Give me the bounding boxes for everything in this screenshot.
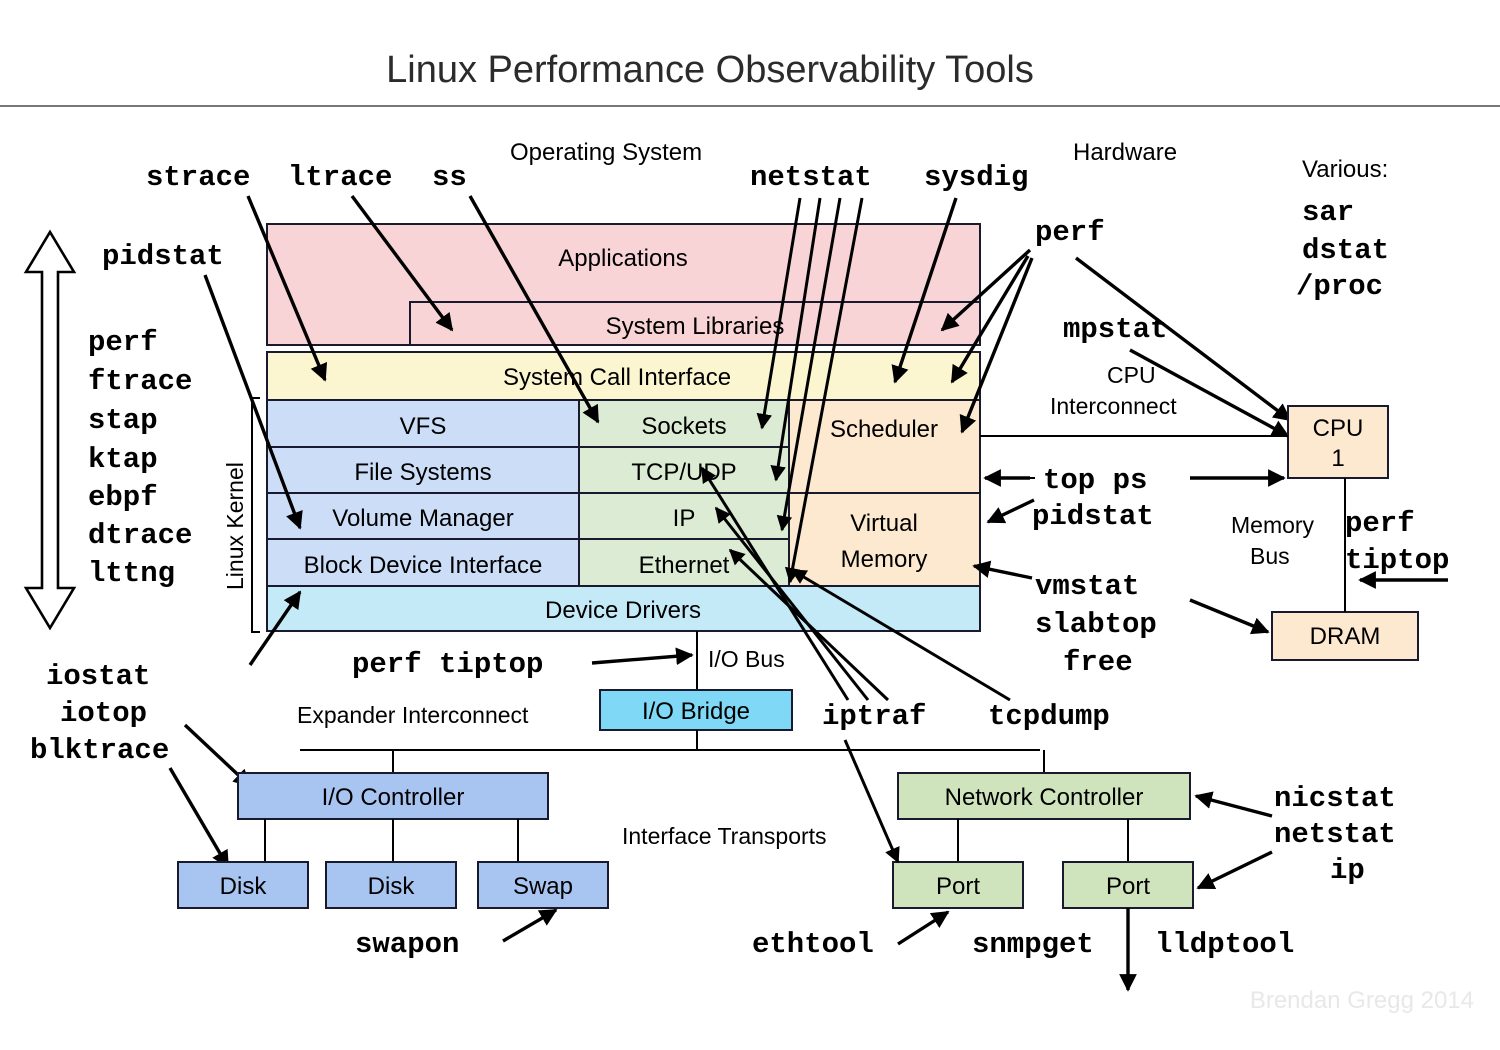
label-io-bus: I/O Bus (708, 646, 785, 672)
arrow-vmstat-to-vm (974, 566, 1032, 578)
tool-iostat: iostat (46, 660, 150, 693)
tool-netstat-right: netstat (1274, 818, 1396, 851)
tool-ltrace: ltrace (288, 161, 392, 194)
tool-pidstat-right: pidstat (1032, 500, 1154, 533)
arrow-ethtool (898, 912, 948, 944)
arrow-swapon (503, 910, 556, 941)
label-dram: DRAM (1310, 623, 1381, 650)
tool-dtrace: dtrace (88, 519, 192, 552)
tool-ethtool: ethtool (752, 928, 874, 961)
arrow-pidstat-to-vm (988, 500, 1034, 522)
page-title: Linux Performance Observability Tools (386, 49, 1034, 91)
arrow-blktrace (170, 768, 228, 867)
tool-netstat-top: netstat (750, 161, 872, 194)
tool-lttng: lttng (88, 557, 175, 590)
label-cpu-line1: CPU (1313, 415, 1364, 442)
tool-swapon: swapon (355, 928, 459, 961)
tool-stap: stap (88, 404, 158, 437)
label-sockets: Sockets (641, 413, 726, 440)
label-ethernet: Ethernet (639, 552, 730, 579)
arrow-ip-to-port2 (1198, 852, 1272, 888)
label-applications: Applications (558, 245, 687, 272)
label-expander-interconnect: Expander Interconnect (297, 702, 529, 728)
label-system-call-interface: System Call Interface (503, 364, 731, 391)
tool-ktap: ktap (88, 443, 158, 476)
box-scheduler (789, 400, 980, 493)
label-scheduler: Scheduler (830, 416, 938, 443)
tool-perf-kernel: perf (88, 326, 158, 359)
tool-free: free (1063, 646, 1133, 679)
label-block-device-interface: Block Device Interface (304, 552, 543, 579)
tool-ftrace: ftrace (88, 365, 192, 398)
diagram-root: Linux Performance Observability Tools Op… (0, 0, 1500, 1050)
arrow-nicstat (1196, 796, 1272, 816)
label-disk-1: Disk (220, 873, 268, 900)
label-file-systems: File Systems (354, 459, 491, 486)
label-memory-bus-2: Bus (1250, 543, 1290, 569)
arrow-perf-tiptop-iobus (592, 655, 692, 663)
tool-sysdig: sysdig (924, 161, 1028, 194)
label-cpu-interconnect-1: CPU (1107, 362, 1156, 388)
tool-pidstat-left: pidstat (102, 240, 224, 273)
label-swap: Swap (513, 873, 573, 900)
tool-perf-mem: perf (1345, 507, 1415, 540)
tool-tcpdump: tcpdump (988, 700, 1110, 733)
label-interface-transports: Interface Transports (622, 823, 827, 849)
tool-blktrace: blktrace (30, 734, 169, 767)
tool-mpstat: mpstat (1063, 313, 1167, 346)
tool-dstat: dstat (1302, 234, 1389, 267)
label-tcp-udp: TCP/UDP (631, 459, 736, 486)
label-disk-2: Disk (368, 873, 416, 900)
label-io-bridge: I/O Bridge (642, 698, 750, 725)
tool-strace: strace (146, 161, 250, 194)
label-memory-bus-1: Memory (1231, 512, 1315, 538)
label-various: Various: (1302, 156, 1388, 183)
label-virtual-memory-line2: Memory (841, 546, 928, 573)
label-cpu-interconnect-2: Interconnect (1050, 393, 1177, 419)
tool-sar: sar (1302, 196, 1354, 229)
label-operating-system: Operating System (510, 139, 702, 166)
label-linux-kernel: Linux Kernel (222, 462, 248, 590)
tool-ss: ss (432, 161, 467, 194)
label-device-drivers: Device Drivers (545, 597, 701, 624)
tool-proc: /proc (1296, 270, 1383, 303)
tool-ebpf: ebpf (88, 481, 158, 514)
scope-double-arrow (26, 232, 74, 628)
label-ip: IP (673, 505, 696, 532)
label-cpu-line2: 1 (1331, 445, 1344, 472)
label-network-controller: Network Controller (945, 784, 1144, 811)
tool-nicstat: nicstat (1274, 782, 1396, 815)
arrow-vmstat-to-dram (1190, 600, 1268, 632)
label-hardware: Hardware (1073, 139, 1177, 166)
tool-lldptool: lldptool (1155, 928, 1294, 961)
tool-perf-top: perf (1035, 216, 1105, 249)
label-port-2: Port (1106, 873, 1150, 900)
tool-perf-tiptop-iobus: perf tiptop (352, 648, 543, 681)
label-io-controller: I/O Controller (322, 784, 465, 811)
label-virtual-memory-line1: Virtual (850, 510, 918, 537)
label-volume-manager: Volume Manager (332, 505, 513, 532)
label-vfs: VFS (400, 413, 447, 440)
tool-iotop: iotop (60, 697, 147, 730)
tool-top-ps: top ps (1043, 464, 1147, 497)
credit-text: Brendan Gregg 2014 (1250, 987, 1474, 1014)
tool-tiptop-mem: tiptop (1345, 544, 1449, 577)
arrow-iptraf-to-port (845, 740, 898, 862)
label-port-1: Port (936, 873, 980, 900)
tool-iptraf: iptraf (822, 700, 926, 733)
tool-vmstat: vmstat (1035, 570, 1139, 603)
label-system-libraries: System Libraries (606, 313, 785, 340)
tool-ip: ip (1330, 854, 1365, 887)
linux-kernel-bracket (252, 398, 260, 632)
tool-slabtop: slabtop (1035, 608, 1157, 641)
tool-snmpget: snmpget (972, 928, 1094, 961)
